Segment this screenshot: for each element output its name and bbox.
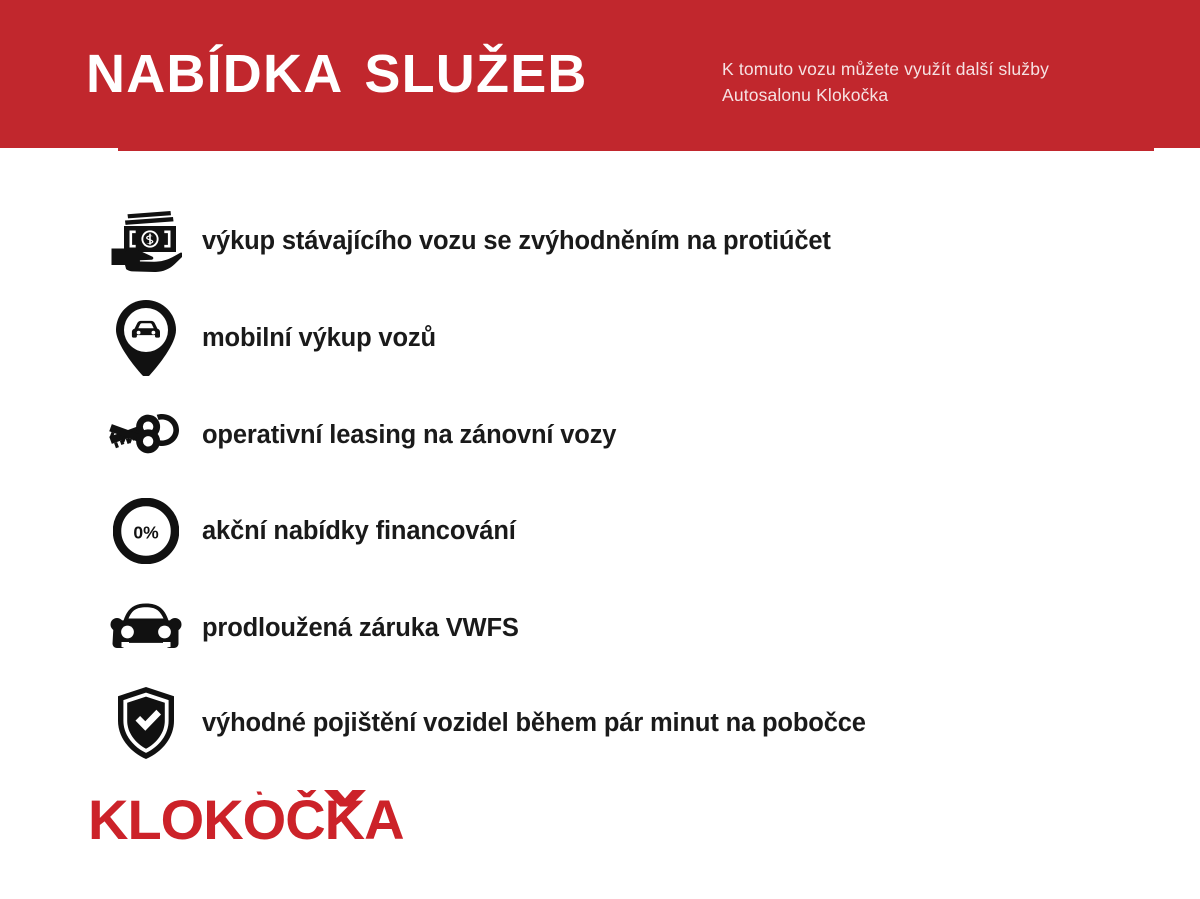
page-title-word-1: NABÍDKA (86, 44, 343, 104)
car-keys-icon (104, 395, 188, 475)
zero-percent-ring-icon: 0% (104, 491, 188, 571)
klokocka-logo-text: KLOKOČKA (88, 790, 404, 848)
zero-percent-label: 0% (133, 523, 159, 543)
service-item-buyback: výkup stávajícího vozu se zvýhodněním na… (104, 201, 831, 281)
page-title-spacer (343, 44, 364, 104)
service-item-mobile-buyback: mobilní výkup vozů (104, 298, 436, 378)
service-label: mobilní výkup vozů (202, 324, 436, 353)
service-label: operativní leasing na zánovní vozy (202, 421, 616, 450)
header-subtitle-line-1: K tomuto vozu můžete využít další služby (722, 56, 1142, 82)
service-label: výhodné pojištění vozidel během pár minu… (202, 709, 866, 738)
page-title-word-2: SLUŽEB (364, 44, 587, 104)
service-item-financing: 0% akční nabídky financování (104, 491, 516, 571)
header-banner-step (118, 148, 1154, 151)
klokocka-logo: KLOKOČKA (88, 790, 468, 846)
service-label: prodloužená záruka VWFS (202, 614, 519, 643)
header-subtitle-line-2: Autosalonu Klokočka (722, 82, 1142, 108)
service-item-extended-warranty: prodloužená záruka VWFS (104, 588, 519, 668)
service-item-insurance: výhodné pojištění vozidel během pár minu… (104, 683, 866, 763)
shield-check-icon (104, 683, 188, 763)
cash-in-hand-icon (104, 201, 188, 281)
car-front-icon (104, 588, 188, 668)
page-title: NABÍDKA SLUŽEB (86, 47, 588, 101)
service-label: akční nabídky financování (202, 517, 516, 546)
service-label: výkup stávajícího vozu se zvýhodněním na… (202, 227, 831, 256)
service-item-operating-lease: operativní leasing na zánovní vozy (104, 395, 616, 475)
header-subtitle: K tomuto vozu můžete využít další služby… (722, 56, 1142, 108)
map-pin-car-icon (104, 298, 188, 378)
